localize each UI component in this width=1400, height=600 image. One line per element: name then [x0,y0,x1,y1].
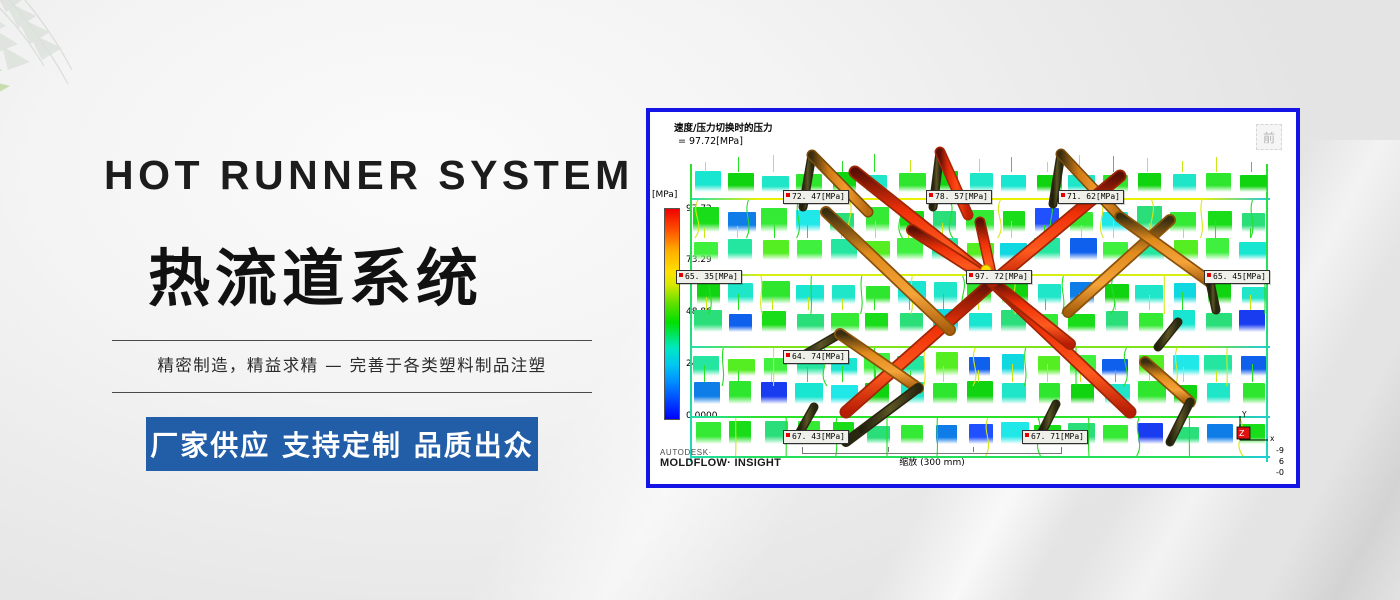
cavity-tie [842,299,843,310]
mold-cavity [1174,283,1196,305]
simulation-result-title: 速度/压力切换时的压力 [674,122,772,135]
page-title-english: HOT RUNNER SYSTEM [104,152,634,199]
cavity-tie [737,226,738,238]
cavity-tie [1183,367,1184,382]
mold-cavity [900,211,925,232]
svg-text:Z: Z [1239,429,1245,438]
mold-cavity [795,383,823,405]
mold-cavity [831,313,859,332]
mold-cavity [694,310,722,332]
cavity-tie [944,156,945,172]
mold-cavity [969,357,991,376]
mold-cavity [1106,311,1127,332]
scale-bar: 缩放 (300 mm) [802,447,1062,468]
mold-cavity [866,175,888,192]
divider-bottom [112,392,592,393]
mold-cavity [693,207,720,232]
mold-cavity [1174,240,1199,260]
pressure-callout: 65. 35[MPa] [676,270,742,284]
cavity-tie [841,224,842,238]
mold-cavity [693,356,720,376]
mold-cavity [933,309,958,332]
mold-cavity [967,243,994,260]
mold-cavity [1243,383,1265,404]
mold-cavity [763,240,789,260]
mold-cavity [966,210,994,232]
mold-cavity [1206,173,1231,192]
mold-cavity [797,240,823,260]
cavity-tie [842,366,843,382]
page-title-chinese: 热流道系统 [148,228,483,318]
pressure-callout: 64. 74[MPa] [783,350,849,364]
mold-cavity [1001,175,1026,192]
pressure-callout: 67. 71[MPa] [1022,430,1088,444]
mold-cavity [728,173,755,192]
axis-label-y: Y [1242,410,1247,419]
mold-cavity [1002,383,1026,404]
mold-cavity [934,282,957,304]
mold-cavity [1239,242,1266,260]
cavity-tie [910,371,911,382]
mold-cavity [1139,313,1162,332]
mold-cavity [1103,242,1128,260]
mold-cavity [797,314,824,332]
mold-cavity [1138,423,1164,444]
mold-cavity [901,425,923,444]
cavity-tie [1011,157,1012,173]
mold-cavity [1002,281,1028,304]
colorbar-unit-label: [MPa] [652,190,677,200]
cavity-tie [874,154,875,172]
mold-cavity [1242,287,1266,304]
cavity-tie [943,294,944,310]
cavity-tie [842,161,843,173]
mold-cavity [932,238,958,260]
mold-cavity [1034,238,1061,260]
mold-cavity [865,241,890,260]
axis-label-x: x [1270,434,1274,443]
cavity-tie [978,370,979,382]
cavity-tie [1216,371,1217,382]
mold-cavity [865,383,889,404]
mold-cavity [1037,314,1058,332]
cavity-tie [1045,299,1046,311]
mold-cavity [830,213,854,232]
cavity-tie [1216,157,1217,172]
cavity-tie [1044,225,1045,238]
mold-cavity [934,171,958,192]
mold-cavity [728,283,753,304]
mold-cavity [728,359,755,376]
cavity-tie [738,294,739,310]
mold-cavity [831,385,858,405]
cavity-tie [1215,220,1216,238]
divider-top [112,340,592,341]
cavity-tie [978,220,979,238]
cavity-tie [875,221,876,238]
cavity-tie [1251,162,1252,172]
mold-cavity [1241,356,1266,376]
cavity-tie [1147,158,1148,172]
mold-cavity [1208,211,1232,232]
mold-cavity [901,382,924,404]
mold-cavity [1105,384,1130,404]
mold-cavity [1206,238,1230,261]
mold-cavity [1039,383,1061,404]
mold-cavity [1001,310,1027,332]
pressure-callout: 97. 72[MPa] [966,270,1032,284]
mold-cavity [1206,313,1232,332]
mold-cavity [729,421,751,444]
pressure-callout: 78. 57[MPa] [926,190,992,204]
cavity-tie [1011,221,1012,238]
pressure-callout: 72. 47[MPa] [783,190,849,204]
cavity-tie [706,297,707,310]
cavity-tie [979,159,980,172]
cavity-tie [808,297,809,310]
pressure-callout: 67. 43[MPa] [783,430,849,444]
cavity-tie [910,160,911,173]
logo-moldflow-insight: MOLDFLOW· INSIGHT [660,457,781,470]
mold-cavity [1208,282,1232,304]
cavity-tie [1012,364,1013,382]
mold-cavity [729,314,752,332]
mold-cavity [967,381,993,404]
front-view-button[interactable]: 前 [1256,124,1282,150]
cta-button[interactable]: 厂家供应 支持定制 品质出众 [146,417,538,471]
mold-cavity [1240,175,1267,192]
cavity-tie [1079,155,1080,172]
cavity-tie [1252,364,1253,382]
cavity-tie [1115,370,1116,382]
manifold-rail [690,416,1270,418]
mold-cavity [1173,310,1195,332]
cavity-tie [875,370,876,382]
coord-value-2: -0 [1276,468,1284,477]
moldflow-simulation-viewport[interactable]: 速度/压力切换时的压力 = 97.72[MPa] 前 [MPa] 97.72 7… [646,108,1300,488]
cavity-tie [738,157,739,172]
mold-cavity [1242,213,1266,232]
mold-cavity [1070,238,1097,260]
cavity-tie [1081,225,1082,238]
banner-text-column: HOT RUNNER SYSTEM 热流道系统 精密制造，精益求精 — 完善于各… [0,0,640,600]
mold-cavity [762,311,786,332]
cavity-tie [774,225,775,238]
mold-cavity [1239,310,1265,332]
mold-cavity [832,285,856,305]
mold-cavity [796,285,824,304]
cavity-tie [773,155,774,172]
cavity-tie [1047,162,1048,173]
mold-cavity [1000,243,1027,260]
mold-cavity [1174,427,1199,445]
mold-cavity [1204,355,1232,376]
cavity-tie [978,294,979,310]
cavity-tie [1182,292,1183,310]
mold-cavity [1038,284,1061,305]
tagline: 精密制造，精益求精 — 完善于各类塑料制品注塑 [112,352,592,376]
mold-cavity [936,352,958,376]
coord-value-0: -9 [1276,446,1284,455]
mold-cavity [695,171,721,192]
autodesk-moldflow-logo: AUTODESK· MOLDFLOW· INSIGHT [660,448,781,470]
mold-cavity [728,212,756,232]
cavity-tie [1113,156,1114,172]
logo-autodesk: AUTODESK· [660,448,781,457]
cavity-tie [738,371,739,383]
scale-bar-ruler [802,447,1062,454]
moldflow-canvas: 速度/压力切换时的压力 = 97.72[MPa] 前 [MPa] 97.72 7… [650,112,1296,484]
mold-cavity [969,313,992,332]
cavity-tie [1080,371,1081,382]
hero-banner: HOT RUNNER SYSTEM 热流道系统 精密制造，精益求精 — 完善于各… [0,0,1400,600]
mold-cavity [933,211,956,232]
mold-cavity [933,383,957,404]
cavity-tie [1149,371,1150,382]
mold-cavity [1105,284,1130,304]
mold-cavity [729,381,752,404]
mold-cavity [1071,384,1094,404]
mold-cavity [898,281,925,304]
manifold-riser [690,164,692,462]
pressure-callout: 71. 62[MPa] [1058,190,1124,204]
cavity-tie [705,162,706,173]
cavity-tie [1047,364,1048,382]
manifold-rail [690,346,1270,348]
mold-cavity [865,313,888,332]
cavity-tie [807,367,808,382]
mold-cavity [969,424,993,444]
coord-value-1: 6 [1279,457,1284,466]
cavity-tie [704,365,705,383]
axis-triad-icon: Z [1228,410,1284,450]
mold-cavity [796,210,819,232]
mold-cavity [694,242,718,260]
cavity-tie [1250,228,1251,238]
mold-cavity [761,382,787,404]
mold-cavity [936,425,958,444]
cavity-tie [772,299,773,310]
cavity-tie [1011,300,1012,311]
mold-cavity [694,382,720,404]
cavity-tie [908,226,909,238]
mold-cavity [867,426,890,444]
mold-cavity [1070,355,1096,376]
mold-cavity [697,281,720,304]
mold-cavity [728,239,752,260]
mold-cavity [1003,211,1025,232]
mold-cavity [1174,385,1197,404]
mold-cavity [1070,282,1094,304]
pressure-callout: 65. 45[MPa] [1204,270,1270,284]
cavity-tie [1113,221,1114,238]
mold-cavity [1173,355,1200,376]
mold-cavity [900,313,923,332]
cavity-tie [1217,298,1218,310]
cavity-tie [1182,161,1183,172]
scale-bar-label: 缩放 (300 mm) [802,455,1062,468]
mold-cavity [866,286,890,304]
simulation-result-value: = 97.72[MPa] [678,136,743,147]
mold-cavity [1139,242,1164,260]
mold-cavity [1139,355,1164,376]
axis-triad: Z Y x -9 6 -0 [1228,410,1284,476]
cavity-tie [1149,223,1150,238]
cavity-tie [942,223,943,238]
cavity-tie [1250,295,1251,311]
mold-cavity [864,353,891,376]
mold-cavity [831,239,857,260]
mold-cavity [1173,174,1196,192]
mold-cavity [897,238,923,260]
cavity-tie [807,161,808,172]
cavity-tie [807,225,808,238]
colorbar-gradient [664,208,680,420]
cavity-tie [771,372,772,382]
mold-cavity [696,422,721,444]
cavity-tie [909,293,910,310]
cavity-tie [874,299,875,311]
mold-cavity [1035,208,1059,232]
mold-cavity-field [690,164,1270,464]
cavity-tie [704,228,705,238]
mold-cavity [1102,212,1129,232]
mold-cavity [1207,383,1230,404]
mold-cavity [1103,425,1127,444]
mold-cavity [866,207,889,232]
mold-cavity [762,281,790,305]
mold-cavity [1138,173,1162,192]
cta-button-label: 厂家供应 支持定制 品质出众 [150,424,534,464]
cavity-tie [1079,293,1080,310]
mold-cavity [833,172,856,192]
mold-cavity [1068,314,1095,332]
mold-cavity [1138,381,1166,404]
cavity-tie [1149,295,1150,310]
cavity-tie [1115,299,1116,311]
cavity-tie [1183,228,1184,238]
cavity-tie [943,366,944,383]
mold-cavity [1038,356,1061,376]
mold-cavity [899,173,926,192]
